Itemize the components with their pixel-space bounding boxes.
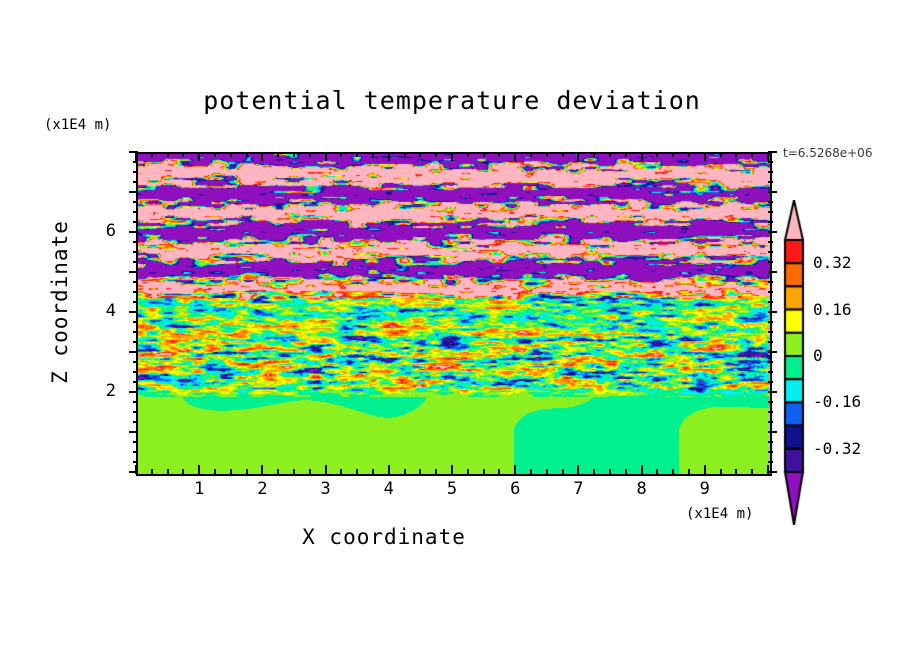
- y-tick-label: 6: [76, 221, 116, 241]
- x-tick-minor-top: [419, 152, 421, 157]
- y-tick-major: [129, 231, 138, 233]
- x-tick-label: 6: [495, 479, 535, 499]
- x-tick-major-top: [261, 152, 263, 161]
- y-tick-minor-right: [768, 411, 773, 413]
- x-tick-major: [325, 465, 327, 474]
- x-tick-major-top: [325, 152, 327, 161]
- y-tick-minor-right: [768, 301, 773, 303]
- y-tick-major: [129, 431, 138, 433]
- x-tick-minor: [751, 469, 753, 474]
- y-tick-minor-right: [768, 441, 773, 443]
- y-tick-minor-right: [768, 241, 773, 243]
- colorbar-gradient: [783, 200, 805, 525]
- y-tick-major: [129, 351, 138, 353]
- y-tick-minor-right: [768, 341, 773, 343]
- x-tick-major: [577, 465, 579, 474]
- y-tick-minor-right: [768, 321, 773, 323]
- colorbar-tick-label: -0.32: [813, 439, 861, 458]
- x-tick-minor: [230, 469, 232, 474]
- y-tick-minor-right: [768, 281, 773, 283]
- y-tick-minor: [133, 281, 138, 283]
- y-tick-minor: [133, 161, 138, 163]
- y-tick-minor-right: [768, 421, 773, 423]
- y-axis-title: Z coordinate: [48, 202, 72, 402]
- x-tick-major: [704, 465, 706, 474]
- x-tick-minor: [483, 469, 485, 474]
- y-tick-major: [129, 151, 138, 153]
- y-tick-minor-right: [768, 331, 773, 333]
- y-tick-minor-right: [768, 291, 773, 293]
- y-tick-minor-right: [768, 361, 773, 363]
- x-tick-major: [198, 465, 200, 474]
- x-tick-minor-top: [404, 152, 406, 157]
- y-tick-minor: [133, 261, 138, 263]
- x-tick-minor: [530, 469, 532, 474]
- x-tick-label: 4: [369, 479, 409, 499]
- x-tick-minor-top: [672, 152, 674, 157]
- y-tick-label: 4: [76, 301, 116, 321]
- timestamp-annotation: t=6.5268e+06: [783, 146, 872, 160]
- y-tick-minor: [133, 411, 138, 413]
- y-tick-minor: [133, 251, 138, 253]
- x-axis-unit-label: (x1E4 m): [686, 506, 753, 522]
- x-tick-major-top: [135, 152, 137, 161]
- y-axis-unit-label: (x1E4 m): [44, 117, 111, 133]
- y-tick-major-right: [768, 271, 777, 273]
- y-tick-minor: [133, 341, 138, 343]
- x-tick-major-top: [388, 152, 390, 161]
- x-tick-major-top: [451, 152, 453, 161]
- x-tick-minor: [593, 469, 595, 474]
- y-tick-minor: [133, 211, 138, 213]
- x-tick-minor: [167, 469, 169, 474]
- y-tick-minor: [133, 451, 138, 453]
- y-tick-minor: [133, 221, 138, 223]
- x-tick-major-top: [704, 152, 706, 161]
- y-tick-minor: [133, 381, 138, 383]
- contour-plot-area[interactable]: [136, 152, 772, 476]
- x-tick-minor: [467, 469, 469, 474]
- y-tick-major: [129, 311, 138, 313]
- x-tick-minor: [277, 469, 279, 474]
- x-tick-minor: [656, 469, 658, 474]
- x-tick-major: [514, 465, 516, 474]
- x-tick-minor: [356, 469, 358, 474]
- y-tick-minor: [133, 241, 138, 243]
- x-tick-minor: [625, 469, 627, 474]
- x-tick-minor-top: [277, 152, 279, 157]
- x-tick-minor-top: [735, 152, 737, 157]
- x-tick-minor: [435, 469, 437, 474]
- x-tick-minor-top: [293, 152, 295, 157]
- contour-field-canvas: [138, 154, 770, 474]
- x-tick-minor-top: [356, 152, 358, 157]
- x-tick-major-top: [514, 152, 516, 161]
- x-tick-minor: [246, 469, 248, 474]
- y-tick-minor-right: [768, 461, 773, 463]
- x-tick-minor: [688, 469, 690, 474]
- x-tick-major: [261, 465, 263, 474]
- x-tick-minor-top: [483, 152, 485, 157]
- y-tick-minor-right: [768, 381, 773, 383]
- y-tick-major: [129, 391, 138, 393]
- x-tick-minor-top: [562, 152, 564, 157]
- x-tick-minor-top: [498, 152, 500, 157]
- x-tick-label: 3: [306, 479, 346, 499]
- x-tick-minor-top: [340, 152, 342, 157]
- x-tick-minor-top: [435, 152, 437, 157]
- x-tick-minor: [720, 469, 722, 474]
- x-tick-minor-top: [167, 152, 169, 157]
- x-tick-label: 8: [622, 479, 662, 499]
- x-tick-major: [641, 465, 643, 474]
- colorbar-tick-label: 0: [813, 346, 823, 365]
- y-tick-minor-right: [768, 261, 773, 263]
- x-tick-minor: [735, 469, 737, 474]
- x-tick-minor-top: [230, 152, 232, 157]
- x-tick-minor: [609, 469, 611, 474]
- x-tick-major-top: [641, 152, 643, 161]
- y-tick-minor-right: [768, 161, 773, 163]
- y-tick-minor-right: [768, 171, 773, 173]
- y-tick-major-right: [768, 191, 777, 193]
- y-tick-minor: [133, 201, 138, 203]
- y-tick-major-right: [768, 311, 777, 313]
- y-tick-major: [129, 271, 138, 273]
- x-tick-minor: [546, 469, 548, 474]
- x-tick-major-top: [767, 152, 769, 161]
- y-tick-major-right: [768, 471, 777, 473]
- x-tick-minor-top: [214, 152, 216, 157]
- y-tick-major-right: [768, 231, 777, 233]
- colorbar-tick-label: 0.16: [813, 300, 852, 319]
- x-tick-label: 7: [558, 479, 598, 499]
- colorbar-tick-label: -0.16: [813, 392, 861, 411]
- x-axis-title: X coordinate: [0, 525, 768, 549]
- x-tick-label: 2: [242, 479, 282, 499]
- x-tick-minor: [151, 469, 153, 474]
- x-tick-minor: [562, 469, 564, 474]
- y-tick-major: [129, 191, 138, 193]
- colorbar[interactable]: [783, 200, 805, 525]
- y-tick-minor-right: [768, 371, 773, 373]
- y-tick-minor-right: [768, 251, 773, 253]
- y-tick-minor: [133, 321, 138, 323]
- y-tick-minor-right: [768, 211, 773, 213]
- x-tick-minor-top: [467, 152, 469, 157]
- x-tick-minor-top: [688, 152, 690, 157]
- x-tick-minor: [498, 469, 500, 474]
- x-tick-label: 1: [179, 479, 219, 499]
- y-tick-minor: [133, 181, 138, 183]
- x-tick-label: 9: [685, 479, 725, 499]
- y-tick-major-right: [768, 351, 777, 353]
- x-tick-major-top: [198, 152, 200, 161]
- x-tick-minor-top: [309, 152, 311, 157]
- y-tick-minor: [133, 301, 138, 303]
- x-tick-minor-top: [151, 152, 153, 157]
- x-tick-minor-top: [546, 152, 548, 157]
- y-tick-minor: [133, 361, 138, 363]
- x-tick-minor: [293, 469, 295, 474]
- x-tick-minor-top: [182, 152, 184, 157]
- y-tick-minor-right: [768, 451, 773, 453]
- x-tick-minor-top: [246, 152, 248, 157]
- y-tick-minor: [133, 441, 138, 443]
- x-tick-minor-top: [593, 152, 595, 157]
- x-tick-minor-top: [751, 152, 753, 157]
- y-tick-major-right: [768, 431, 777, 433]
- x-tick-major: [388, 465, 390, 474]
- y-tick-minor-right: [768, 401, 773, 403]
- x-tick-minor: [182, 469, 184, 474]
- y-tick-minor-right: [768, 181, 773, 183]
- x-tick-minor-top: [530, 152, 532, 157]
- x-tick-minor: [404, 469, 406, 474]
- x-tick-minor-top: [372, 152, 374, 157]
- y-tick-minor: [133, 371, 138, 373]
- x-tick-major: [451, 465, 453, 474]
- x-tick-minor: [214, 469, 216, 474]
- x-tick-major-top: [577, 152, 579, 161]
- y-tick-minor: [133, 331, 138, 333]
- y-tick-major-right: [768, 391, 777, 393]
- x-tick-minor: [672, 469, 674, 474]
- y-tick-minor: [133, 401, 138, 403]
- y-tick-minor: [133, 461, 138, 463]
- colorbar-tick-label: 0.32: [813, 253, 852, 272]
- y-tick-minor: [133, 421, 138, 423]
- y-tick-minor: [133, 171, 138, 173]
- y-tick-minor-right: [768, 221, 773, 223]
- x-tick-minor-top: [720, 152, 722, 157]
- x-tick-minor: [372, 469, 374, 474]
- page-title: potential temperature deviation: [0, 86, 904, 115]
- x-tick-minor: [419, 469, 421, 474]
- x-tick-minor-top: [609, 152, 611, 157]
- y-tick-major-right: [768, 151, 777, 153]
- x-tick-minor: [340, 469, 342, 474]
- x-tick-label: 5: [432, 479, 472, 499]
- y-tick-minor-right: [768, 201, 773, 203]
- x-tick-minor-top: [656, 152, 658, 157]
- y-tick-major: [129, 471, 138, 473]
- y-tick-label: 2: [76, 381, 116, 401]
- x-tick-minor-top: [625, 152, 627, 157]
- x-tick-minor: [309, 469, 311, 474]
- y-tick-minor: [133, 291, 138, 293]
